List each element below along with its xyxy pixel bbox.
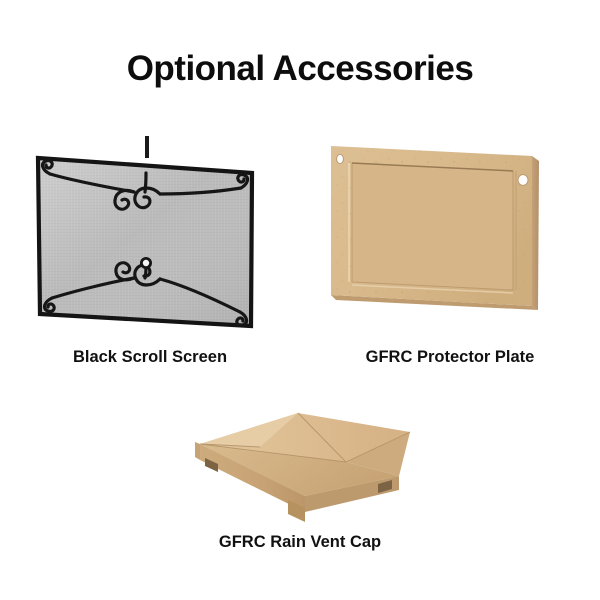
- ventcap-left-band: [195, 442, 200, 460]
- product-card-black-scroll-screen: Black Scroll Screen: [20, 130, 280, 375]
- page-title: Optional Accessories: [0, 50, 600, 89]
- product-card-gfrc-protector-plate: GFRC Protector Plate: [320, 130, 580, 375]
- gfrc-protector-plate-illustration: [320, 130, 570, 340]
- product-label-gfrc-protector-plate: GFRC Protector Plate: [320, 348, 580, 367]
- product-label-gfrc-rain-vent-cap: GFRC Rain Vent Cap: [110, 533, 490, 552]
- accessories-page: Optional Accessories: [0, 0, 600, 600]
- product-label-black-scroll-screen: Black Scroll Screen: [20, 348, 280, 367]
- plate-mounting-hole-left: [337, 154, 344, 163]
- product-card-gfrc-rain-vent-cap: GFRC Rain Vent Cap: [110, 400, 490, 575]
- screen-handle-icon: [145, 136, 149, 158]
- plate-inner-panel: [352, 163, 513, 290]
- gfrc-rain-vent-cap-illustration: [110, 400, 490, 525]
- plate-mounting-hole-right: [518, 175, 528, 186]
- plate-right-edge: [532, 156, 539, 310]
- screen-knob: [140, 257, 152, 269]
- black-scroll-screen-illustration: [20, 130, 280, 340]
